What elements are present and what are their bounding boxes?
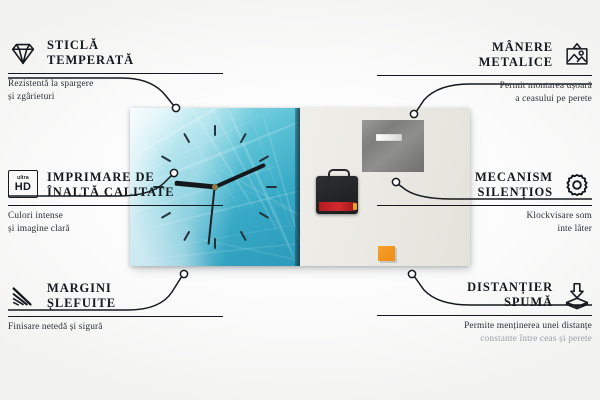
battery bbox=[319, 202, 355, 211]
feature-title: DISTANȚIER SPUMĂ bbox=[467, 280, 553, 311]
quartz-movement bbox=[316, 176, 358, 214]
feature-header: DISTANȚIER SPUMĂ bbox=[377, 280, 592, 311]
feature-description: Culori intense și imagine clară bbox=[8, 210, 223, 235]
press-down-spacer-icon bbox=[562, 280, 592, 310]
feature-manere-metalice: MÂNERE METALICE Permit montarea ușoară a… bbox=[377, 40, 592, 105]
feature-description: Permit montarea ușoară a ceasului pe per… bbox=[377, 80, 592, 105]
feature-header: STICLĂ TEMPERATĂ bbox=[8, 38, 223, 69]
foam-spacer bbox=[378, 246, 395, 261]
feature-margini-slefuite: MARGINI ȘLEFUITE Finisare netedă și sigu… bbox=[8, 281, 223, 334]
feature-underline bbox=[8, 205, 223, 207]
feature-title: MARGINI ȘLEFUITE bbox=[47, 281, 116, 312]
infographic-canvas: STICLĂ TEMPERATĂ Rezistentă la spargere … bbox=[0, 0, 600, 400]
metal-hanger-plate bbox=[362, 120, 424, 172]
feature-description: Permite menținerea unei distanțe constan… bbox=[377, 320, 592, 345]
feature-title: STICLĂ TEMPERATĂ bbox=[47, 38, 134, 69]
hanging-picture-icon bbox=[562, 40, 592, 70]
leader-dot-margini-slefuite bbox=[180, 270, 187, 277]
feature-header: ultra HD IMPRIMARE DE ÎNALTĂ CALITATE bbox=[8, 170, 223, 201]
feature-mecanism-silentios: MECANISM SILENȚIOS Klockvisare som inte … bbox=[377, 170, 592, 235]
feature-sticla-temperata: STICLĂ TEMPERATĂ Rezistentă la spargere … bbox=[8, 38, 223, 103]
polished-edges-icon bbox=[8, 281, 38, 311]
ultra-hd-large-text: HD bbox=[15, 182, 32, 193]
feature-header: MECANISM SILENȚIOS bbox=[377, 170, 592, 201]
feature-distantier-spuma: DISTANȚIER SPUMĂ Permite menținerea unei… bbox=[377, 280, 592, 345]
feature-title: MÂNERE METALICE bbox=[479, 40, 553, 71]
ultra-hd-icon: ultra HD bbox=[8, 170, 38, 200]
feature-title: IMPRIMARE DE ÎNALTĂ CALITATE bbox=[47, 170, 175, 201]
feature-underline bbox=[8, 73, 223, 75]
feature-imprimare-calitate: ultra HD IMPRIMARE DE ÎNALTĂ CALITATE Cu… bbox=[8, 170, 223, 235]
movement-hook bbox=[328, 169, 350, 181]
feature-description: Rezistentă la spargere și zgârieturi bbox=[8, 78, 223, 103]
feature-underline bbox=[377, 75, 592, 77]
gear-icon bbox=[562, 170, 592, 200]
feature-underline bbox=[377, 205, 592, 207]
feature-title: MECANISM SILENȚIOS bbox=[475, 170, 553, 201]
clock-tick bbox=[215, 186, 277, 188]
leader-dot-distantier-spuma bbox=[408, 270, 415, 277]
feature-header: MÂNERE METALICE bbox=[377, 40, 592, 71]
ultra-hd-small-text: ultra bbox=[17, 176, 29, 181]
diamond-icon bbox=[8, 38, 38, 68]
feature-underline bbox=[8, 316, 223, 318]
feature-underline bbox=[377, 315, 592, 317]
feature-description: Finisare netedă și sigură bbox=[8, 321, 223, 334]
feature-description: Klockvisare som inte låter bbox=[377, 210, 592, 235]
feature-header: MARGINI ȘLEFUITE bbox=[8, 281, 223, 312]
